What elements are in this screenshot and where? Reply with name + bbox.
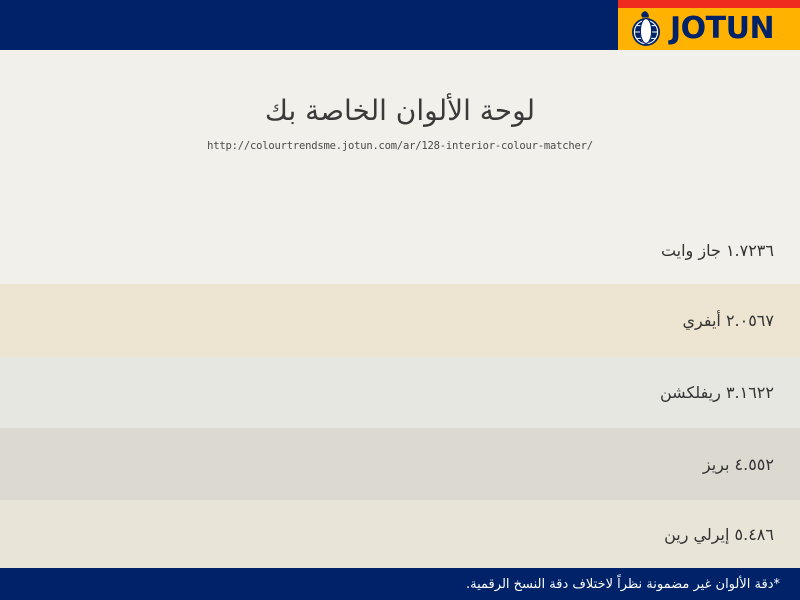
source-url: http://colourtrendsme.jotun.com/ar/128-i…: [0, 140, 800, 152]
page-header: JOTUN: [0, 0, 800, 50]
colour-swatch-row-4[interactable]: ٤.٥٥٢ بريز: [0, 428, 800, 500]
colour-swatch-row-3[interactable]: ٣.١٦٢٢ ريفلكشن: [0, 357, 800, 428]
logo-content: JOTUN: [618, 8, 800, 50]
page-title: لوحة الألوان الخاصة بك: [0, 94, 800, 127]
title-section: لوحة الألوان الخاصة بك http://colourtren…: [0, 50, 800, 216]
jotun-brand-wordmark: JOTUN: [670, 14, 774, 44]
colour-swatch-label: ١.٧٢٣٦ جاز وايت: [661, 241, 774, 260]
jotun-logo-panel: JOTUN: [618, 0, 800, 50]
colour-swatch-row-1[interactable]: ١.٧٢٣٦ جاز وايت: [0, 216, 800, 284]
page-footer: *دقة الألوان غير مضمونة نظراً لاختلاف دق…: [0, 568, 800, 600]
colour-swatch-label: ٤.٥٥٢ بريز: [703, 455, 774, 474]
colour-swatch-label: ٣.١٦٢٢ ريفلكشن: [660, 383, 774, 402]
colour-accuracy-disclaimer: *دقة الألوان غير مضمونة نظراً لاختلاف دق…: [466, 577, 780, 592]
colour-palette-page: JOTUN لوحة الألوان الخاصة بك http://colo…: [0, 0, 800, 600]
jotun-globe-droplet-logo-icon: [626, 10, 666, 48]
logo-red-stripe: [618, 0, 800, 8]
colour-swatch-label: ٢.٠٥٦٧ أيفري: [683, 311, 775, 330]
colour-swatch-row-5[interactable]: ٥.٤٨٦ إيرلي رين: [0, 500, 800, 568]
colour-swatch-list: ١.٧٢٣٦ جاز وايت ٢.٠٥٦٧ أيفري ٣.١٦٢٢ ريفل…: [0, 216, 800, 568]
colour-swatch-label: ٥.٤٨٦ إيرلي رين: [664, 525, 774, 544]
colour-swatch-row-2[interactable]: ٢.٠٥٦٧ أيفري: [0, 284, 800, 357]
